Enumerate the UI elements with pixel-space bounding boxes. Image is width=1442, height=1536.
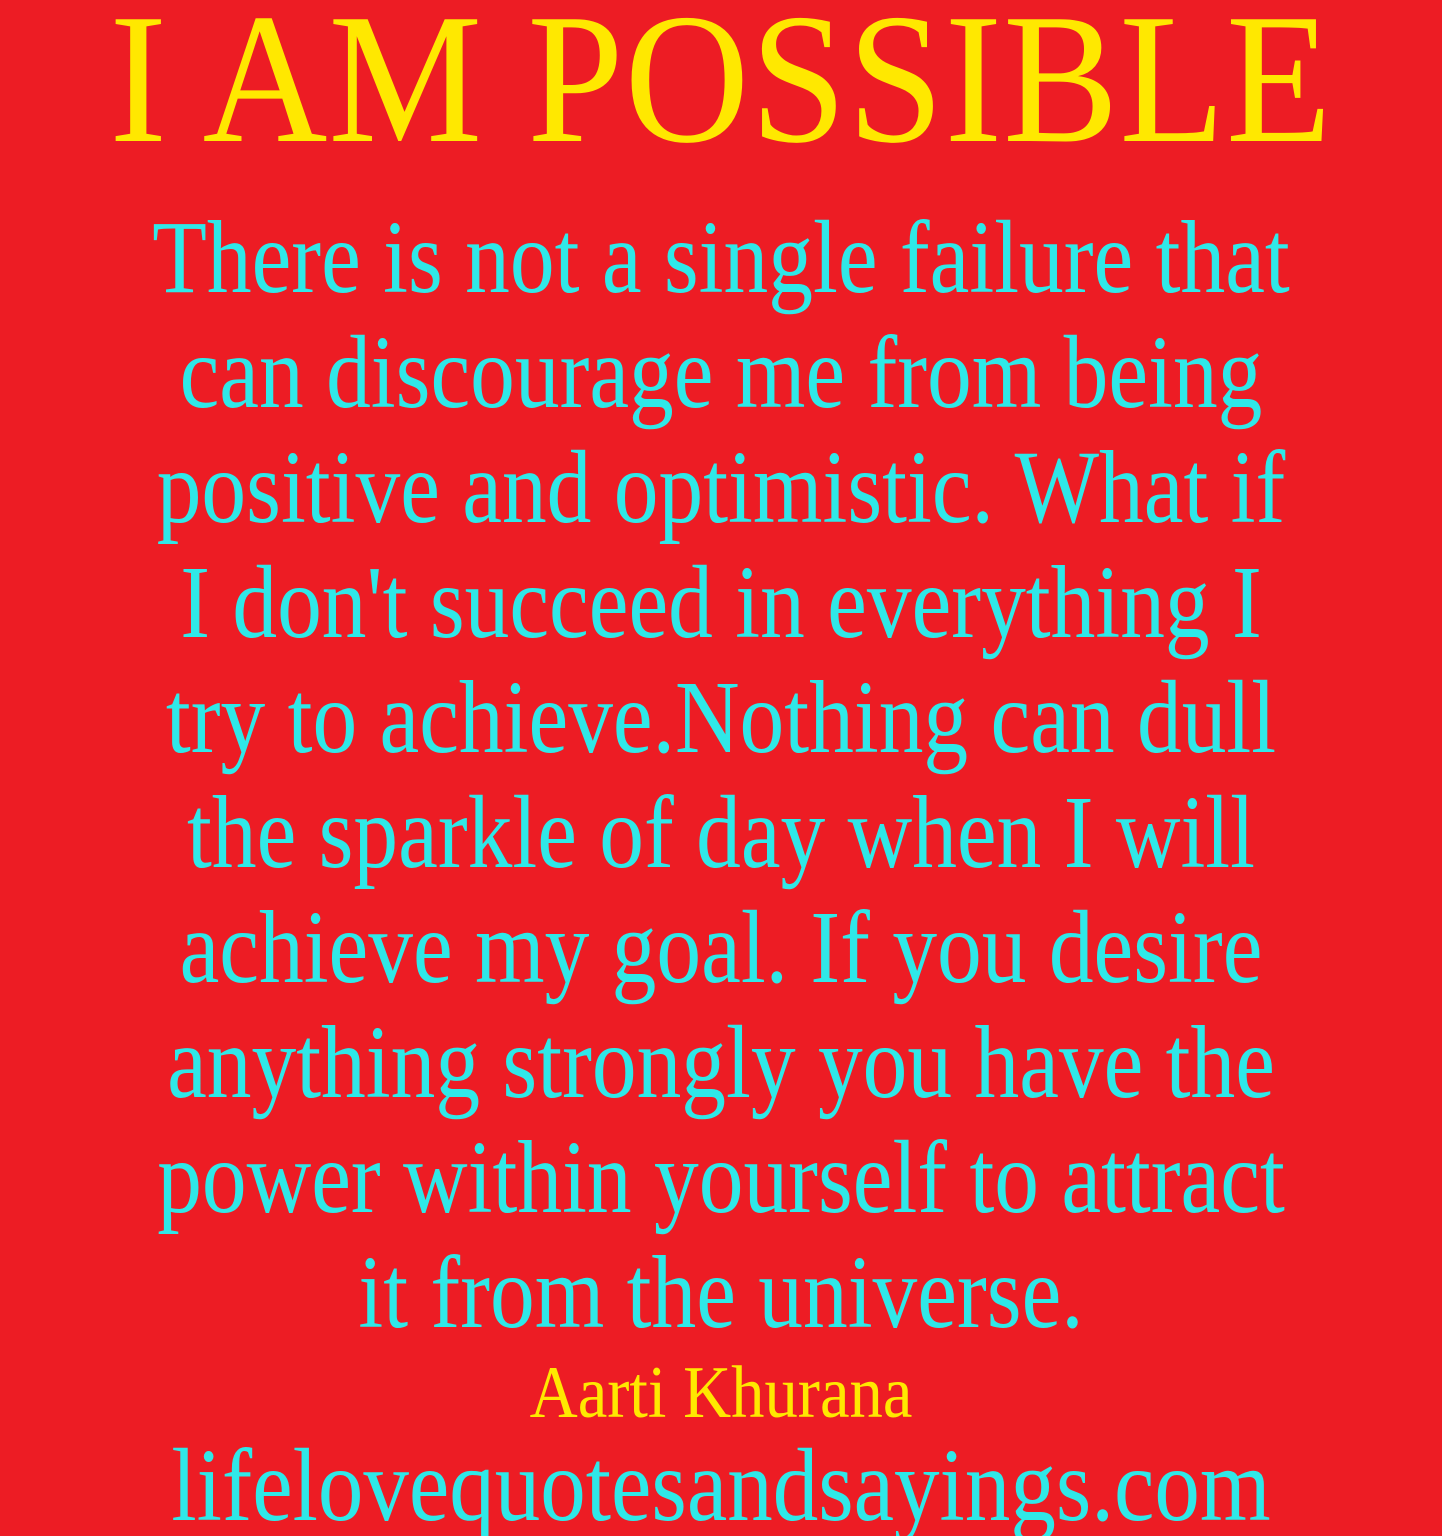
website-url: lifelovequotesandsayings.com [90,1434,1352,1536]
quote-body: There is not a single failure that can d… [0,200,1442,1350]
quote-line: can discourage me from being [101,315,1341,430]
quote-line: positive and optimistic. What if [101,430,1341,545]
quote-line: try to achieve.Nothing can dull [101,660,1341,775]
quote-poster: I AM POSSIBLE There is not a single fail… [0,0,1442,1536]
quote-line: I don't succeed in everything I [101,545,1341,660]
quote-line: achieve my goal. If you desire [101,890,1341,1005]
quote-line: the sparkle of day when I will [101,775,1341,890]
page-title: I AM POSSIBLE [50,0,1391,172]
quote-line: There is not a single failure that [101,200,1341,315]
quote-line: anything strongly you have the [101,1005,1341,1120]
quote-line: power within yourself to attract [101,1120,1341,1235]
quote-author: Aarti Khurana [72,1356,1370,1430]
quote-line: it from the universe. [101,1235,1341,1350]
